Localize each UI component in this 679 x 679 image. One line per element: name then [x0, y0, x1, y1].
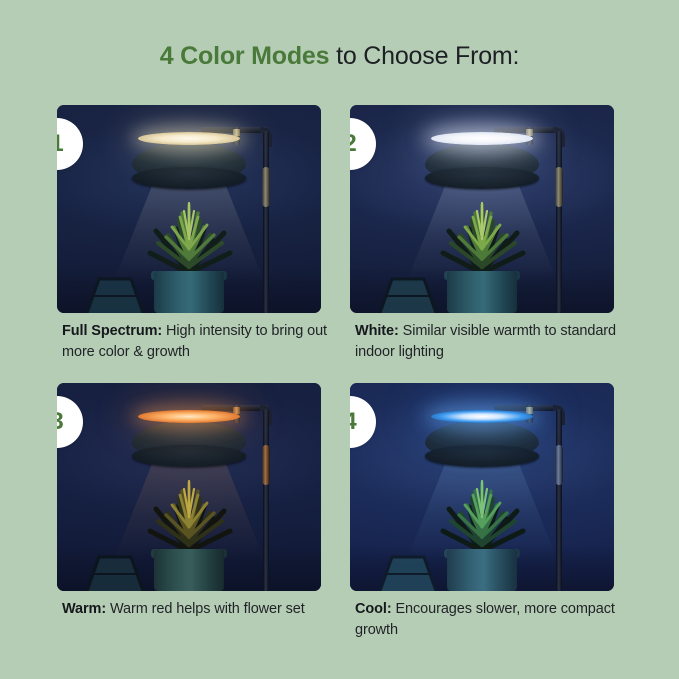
page-title: 4 Color Modes to Choose From:: [0, 40, 679, 72]
mode-image-3: 3: [57, 383, 321, 591]
mode-card-3[interactable]: 3 Warm: Warm red helps with flower set: [57, 383, 321, 591]
mode-image-2: 2: [350, 105, 614, 313]
wire-stand: [372, 549, 444, 591]
plant-foliage: [134, 183, 244, 275]
plant-pot: [447, 271, 517, 313]
mode-caption-3: Warm: Warm red helps with flower set: [62, 599, 340, 620]
mode-image-1: 1: [57, 105, 321, 313]
plant-foliage: [427, 183, 537, 275]
lamp-light-panel: [431, 410, 533, 423]
mode-term-1: Full Spectrum:: [62, 323, 162, 339]
lamp-light-panel: [138, 132, 240, 145]
lamp-pole-sleeve: [555, 167, 563, 207]
plant-foliage: [134, 461, 244, 553]
lamp-light-panel: [431, 132, 533, 145]
wire-stand: [79, 271, 151, 313]
wire-stand: [79, 549, 151, 591]
lamp-pole: [263, 409, 269, 591]
mode-card-2[interactable]: 2 White: Similar visible warmth to stand…: [350, 105, 614, 313]
mode-caption-4: Cool: Encourages slower, more compact gr…: [355, 599, 633, 641]
lamp-pole-sleeve: [555, 445, 563, 485]
mode-term-4: Cool:: [355, 601, 392, 617]
lamp-light-panel: [138, 410, 240, 423]
lamp-pole: [263, 131, 269, 313]
lamp-pole: [556, 131, 562, 313]
plant-pot: [447, 549, 517, 591]
plant-pot: [154, 549, 224, 591]
mode-caption-1: Full Spectrum: High intensity to bring o…: [62, 321, 340, 363]
mode-description-3: Warm red helps with flower set: [106, 601, 305, 617]
page-title-highlight: 4 Color Modes: [160, 42, 330, 70]
mode-term-3: Warm:: [62, 601, 106, 617]
mode-term-2: White:: [355, 323, 399, 339]
plant-pot: [154, 271, 224, 313]
wire-stand: [372, 271, 444, 313]
mode-card-4[interactable]: 4 Cool: Encourages slower, more compact …: [350, 383, 614, 591]
infographic-page: 4 Color Modes to Choose From:: [0, 0, 679, 679]
mode-description-4: Encourages slower, more compact growth: [355, 601, 615, 638]
mode-card-1[interactable]: 1 Full Spectrum: High intensity to bring…: [57, 105, 321, 313]
lamp-pole-sleeve: [262, 167, 270, 207]
lamp-pole: [556, 409, 562, 591]
mode-image-4: 4: [350, 383, 614, 591]
page-title-rest: to Choose From:: [329, 42, 519, 70]
lamp-pole-sleeve: [262, 445, 270, 485]
plant-foliage: [427, 461, 537, 553]
mode-caption-2: White: Similar visible warmth to standar…: [355, 321, 633, 363]
